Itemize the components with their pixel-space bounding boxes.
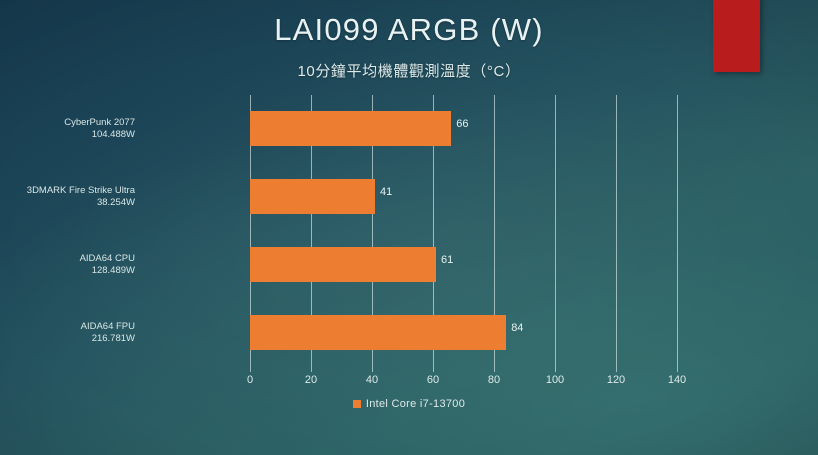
x-axis-tick-label: 60 <box>427 374 439 386</box>
category-label-name: 3DMARK Fire Strike Ultra <box>27 185 135 197</box>
x-axis-tick-label: 0 <box>247 374 253 386</box>
legend-label: Intel Core i7-13700 <box>366 398 465 410</box>
bar-data-label: 66 <box>456 118 468 130</box>
x-axis-tick-label: 100 <box>546 374 564 386</box>
chart-legend: Intel Core i7-13700 <box>0 398 818 410</box>
category-label: CyberPunk 2077104.488W <box>64 117 135 141</box>
x-axis-tick <box>677 367 678 372</box>
chart-gridline <box>677 95 678 367</box>
x-axis-tick <box>494 367 495 372</box>
category-label-name: CyberPunk 2077 <box>64 117 135 129</box>
bar-row[interactable]: 66 <box>250 95 677 163</box>
x-axis-tick <box>250 367 251 372</box>
chart-bar[interactable] <box>250 179 375 214</box>
chart-bar[interactable] <box>250 247 436 282</box>
slide-canvas: LAI099 ARGB (W) 10分鐘平均機體觀測溫度（°C） 0204060… <box>0 0 818 455</box>
category-label-wattage: 104.488W <box>64 129 135 141</box>
category-label: 3DMARK Fire Strike Ultra38.254W <box>27 185 135 209</box>
x-axis-tick <box>372 367 373 372</box>
x-axis-tick-label: 40 <box>366 374 378 386</box>
category-label: AIDA64 CPU128.489W <box>80 253 135 277</box>
bar-data-label: 84 <box>511 322 523 334</box>
x-axis-tick <box>616 367 617 372</box>
bar-data-label: 41 <box>380 186 392 198</box>
x-axis-tick-label: 20 <box>305 374 317 386</box>
bar-row[interactable]: 84 <box>250 299 677 367</box>
category-label: AIDA64 FPU216.781W <box>81 321 135 345</box>
x-axis-tick-label: 80 <box>488 374 500 386</box>
bar-row[interactable]: 41 <box>250 163 677 231</box>
category-label-name: AIDA64 CPU <box>80 253 135 265</box>
x-axis-tick-label: 120 <box>607 374 625 386</box>
x-axis-tick <box>433 367 434 372</box>
chart-bar[interactable] <box>250 111 451 146</box>
category-label-wattage: 216.781W <box>81 333 135 345</box>
legend-swatch-icon <box>353 400 361 408</box>
bar-data-label: 61 <box>441 254 453 266</box>
category-label-wattage: 38.254W <box>27 197 135 209</box>
bar-row[interactable]: 61 <box>250 231 677 299</box>
slide-subtitle: 10分鐘平均機體觀測溫度（°C） <box>0 60 818 81</box>
x-axis-tick <box>311 367 312 372</box>
chart-bar[interactable] <box>250 315 506 350</box>
x-axis-tick-label: 140 <box>668 374 686 386</box>
chart-plot-area: 02040608010012014066416184 <box>250 95 677 367</box>
category-label-wattage: 128.489W <box>80 265 135 277</box>
category-label-name: AIDA64 FPU <box>81 321 135 333</box>
slide-title: LAI099 ARGB (W) <box>0 12 818 48</box>
x-axis-tick <box>555 367 556 372</box>
